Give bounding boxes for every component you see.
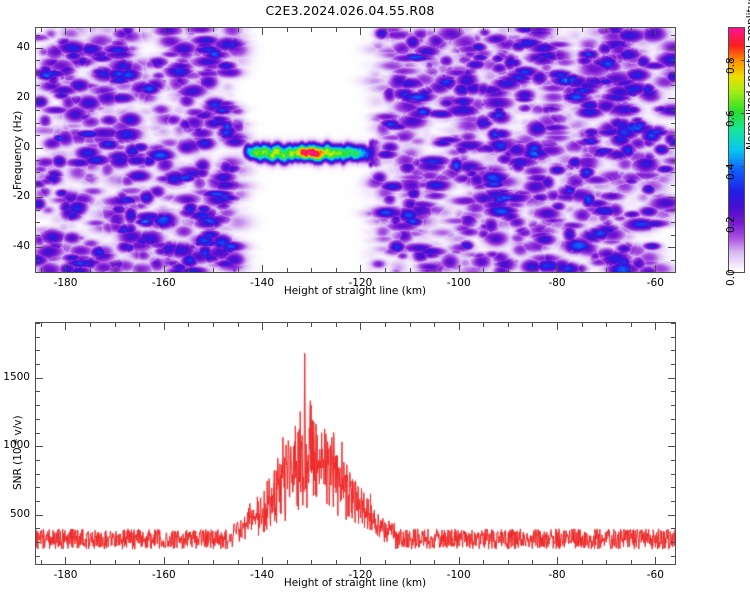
axis-tick <box>36 260 40 261</box>
axis-tick <box>434 323 435 327</box>
axis-tick <box>36 172 40 173</box>
axis-tick <box>582 268 583 272</box>
axis-tick <box>671 60 675 61</box>
axis-tick <box>671 323 675 324</box>
axis-tick <box>36 73 40 74</box>
axis-tick <box>115 560 116 564</box>
axis-tick <box>336 560 337 564</box>
axis-tick <box>36 391 40 392</box>
axis-tick <box>655 557 656 564</box>
axis-tick <box>139 268 140 272</box>
axis-tick <box>65 323 66 330</box>
axis-tick <box>671 135 675 136</box>
axis-tick <box>36 542 40 543</box>
axis-tick <box>36 528 40 529</box>
axis-tick <box>671 272 675 273</box>
axis-tick <box>532 323 533 327</box>
axis-tick <box>557 28 558 35</box>
axis-tick <box>36 48 43 49</box>
axis-tick <box>385 28 386 32</box>
axis-tick <box>262 265 263 272</box>
axis-tick <box>36 160 40 161</box>
axis-tick <box>311 323 312 327</box>
axis-tick <box>213 560 214 564</box>
colorbar-tick-label: 0.2 <box>725 216 737 233</box>
axis-tick <box>671 542 675 543</box>
axis-tick <box>508 323 509 327</box>
axis-tick <box>336 268 337 272</box>
axis-tick <box>36 247 43 248</box>
axis-tick <box>287 323 288 327</box>
axis-tick <box>671 460 675 461</box>
axis-tick <box>360 28 361 35</box>
axis-tick <box>671 73 675 74</box>
axis-tick <box>385 560 386 564</box>
axis-tick <box>115 28 116 32</box>
axis-tick <box>36 222 40 223</box>
axis-tick <box>36 364 40 365</box>
axis-tick <box>139 28 140 32</box>
axis-tick <box>115 268 116 272</box>
axis-tick <box>671 528 675 529</box>
axis-tick <box>671 235 675 236</box>
axis-tick <box>41 268 42 272</box>
axis-tick <box>36 474 40 475</box>
axis-tick <box>36 323 40 324</box>
axis-tick <box>671 405 675 406</box>
axis-tick <box>385 268 386 272</box>
axis-tick <box>36 515 43 516</box>
axis-tick <box>36 148 43 149</box>
axis-tick <box>36 185 40 186</box>
axis-tick <box>668 378 675 379</box>
colorbar-tick-label: 0.6 <box>725 110 737 127</box>
axis-tick <box>336 28 337 32</box>
axis-tick <box>655 265 656 272</box>
axis-tick <box>41 323 42 327</box>
axis-tick <box>188 28 189 32</box>
axis-tick <box>508 28 509 32</box>
axis-tick <box>36 123 40 124</box>
axis-tick <box>336 323 337 327</box>
axis-tick <box>36 35 40 36</box>
axis-tick <box>532 268 533 272</box>
colorbar-tick-label: 0.0 <box>725 269 737 286</box>
axis-tick <box>508 268 509 272</box>
y-tick-label: -20 <box>0 190 30 202</box>
axis-tick <box>36 350 40 351</box>
axis-tick <box>582 560 583 564</box>
spectrogram-plot <box>35 27 676 273</box>
axis-tick <box>115 323 116 327</box>
axis-tick <box>410 268 411 272</box>
axis-tick <box>671 35 675 36</box>
axis-tick <box>36 197 43 198</box>
axis-tick <box>36 272 40 273</box>
axis-tick <box>606 560 607 564</box>
axis-tick <box>631 268 632 272</box>
axis-tick <box>671 364 675 365</box>
axis-tick <box>671 474 675 475</box>
axis-tick <box>36 460 40 461</box>
axis-tick <box>311 28 312 32</box>
x-tick-label: -80 <box>527 569 587 581</box>
axis-tick <box>238 560 239 564</box>
spectrogram-xaxis-label: Height of straight line (km) <box>175 285 535 297</box>
axis-tick <box>671 110 675 111</box>
axis-tick <box>606 268 607 272</box>
axis-tick <box>671 501 675 502</box>
axis-tick <box>671 350 675 351</box>
axis-tick <box>655 323 656 330</box>
axis-tick <box>36 556 40 557</box>
axis-tick <box>36 135 40 136</box>
axis-tick <box>668 48 675 49</box>
axis-tick <box>483 560 484 564</box>
axis-tick <box>582 323 583 327</box>
axis-tick <box>213 323 214 327</box>
axis-tick <box>631 323 632 327</box>
axis-tick <box>671 391 675 392</box>
x-tick-label: -80 <box>527 277 587 289</box>
axis-tick <box>287 268 288 272</box>
snr-xaxis-label: Height of straight line (km) <box>175 577 535 589</box>
axis-tick <box>360 265 361 272</box>
axis-tick <box>557 557 558 564</box>
axis-tick <box>668 446 675 447</box>
axis-tick <box>655 28 656 35</box>
axis-tick <box>36 433 40 434</box>
spectrogram-yaxis-label: Frequency (Hz) <box>12 111 24 190</box>
axis-tick <box>65 265 66 272</box>
axis-tick <box>671 185 675 186</box>
axis-tick <box>668 515 675 516</box>
axis-tick <box>65 557 66 564</box>
axis-tick <box>238 268 239 272</box>
axis-tick <box>410 323 411 327</box>
axis-tick <box>311 560 312 564</box>
axis-tick <box>483 268 484 272</box>
axis-tick <box>410 28 411 32</box>
colorbar-tick-label: 0.4 <box>725 163 737 180</box>
axis-tick <box>410 560 411 564</box>
axis-tick <box>459 28 460 35</box>
axis-tick <box>36 378 43 379</box>
axis-tick <box>459 265 460 272</box>
axis-tick <box>188 560 189 564</box>
axis-tick <box>36 60 40 61</box>
axis-tick <box>483 28 484 32</box>
snr-plot <box>35 322 676 565</box>
axis-tick <box>671 210 675 211</box>
axis-tick <box>668 197 675 198</box>
axis-tick <box>287 560 288 564</box>
axis-tick <box>36 110 40 111</box>
axis-tick <box>262 28 263 35</box>
axis-tick <box>668 148 675 149</box>
axis-tick <box>671 433 675 434</box>
colorbar-tick <box>741 272 744 273</box>
figure-canvas: C2E3.2024.026.04.55.R08 -180-160-140-120… <box>0 0 750 600</box>
axis-tick <box>287 28 288 32</box>
axis-tick <box>385 323 386 327</box>
axis-tick <box>671 487 675 488</box>
axis-tick <box>311 268 312 272</box>
y-tick-label: -40 <box>0 240 30 252</box>
axis-tick <box>65 28 66 35</box>
axis-tick <box>90 560 91 564</box>
axis-tick <box>262 323 263 330</box>
snr-trace <box>36 323 675 564</box>
axis-tick <box>532 28 533 32</box>
colorbar-tick <box>741 166 744 167</box>
axis-tick <box>671 260 675 261</box>
colorbar-tick-label: 0.8 <box>725 57 737 74</box>
axis-tick <box>36 235 40 236</box>
axis-tick <box>360 557 361 564</box>
axis-tick <box>459 557 460 564</box>
axis-tick <box>483 323 484 327</box>
axis-tick <box>508 560 509 564</box>
axis-tick <box>90 28 91 32</box>
x-tick-label: -60 <box>625 569 685 581</box>
axis-tick <box>631 560 632 564</box>
axis-tick <box>582 28 583 32</box>
axis-tick <box>606 323 607 327</box>
axis-tick <box>238 323 239 327</box>
axis-tick <box>434 28 435 32</box>
axis-tick <box>532 560 533 564</box>
x-tick-label: -180 <box>35 569 95 581</box>
axis-tick <box>631 28 632 32</box>
axis-tick <box>36 419 40 420</box>
axis-tick <box>668 98 675 99</box>
axis-tick <box>459 323 460 330</box>
axis-tick <box>671 419 675 420</box>
snr-yaxis-label: SNR (10 * v/v) <box>12 415 24 490</box>
axis-tick <box>90 323 91 327</box>
axis-tick <box>213 28 214 32</box>
y-tick-label: 1500 <box>0 371 30 383</box>
axis-tick <box>164 28 165 35</box>
axis-tick <box>434 268 435 272</box>
axis-tick <box>262 557 263 564</box>
axis-tick <box>557 323 558 330</box>
axis-tick <box>671 172 675 173</box>
axis-tick <box>36 446 43 447</box>
axis-tick <box>36 337 40 338</box>
axis-tick <box>164 557 165 564</box>
axis-tick <box>606 28 607 32</box>
axis-tick <box>139 560 140 564</box>
axis-tick <box>36 98 43 99</box>
axis-tick <box>671 556 675 557</box>
axis-tick <box>671 160 675 161</box>
y-tick-label: 20 <box>0 91 30 103</box>
axis-tick <box>41 28 42 32</box>
axis-tick <box>90 268 91 272</box>
colorbar-tick <box>741 219 744 220</box>
axis-tick <box>557 265 558 272</box>
axis-tick <box>36 405 40 406</box>
y-tick-label: 500 <box>0 508 30 520</box>
axis-tick <box>164 323 165 330</box>
x-tick-label: -180 <box>35 277 95 289</box>
colorbar-tick <box>741 60 744 61</box>
axis-tick <box>671 337 675 338</box>
colorbar-label: Normalized spectral amplitude <box>745 0 750 150</box>
axis-tick <box>671 222 675 223</box>
axis-tick <box>671 85 675 86</box>
axis-tick <box>360 323 361 330</box>
axis-tick <box>188 323 189 327</box>
axis-tick <box>36 210 40 211</box>
colorbar-tick <box>741 113 744 114</box>
x-tick-label: -60 <box>625 277 685 289</box>
axis-tick <box>668 247 675 248</box>
y-tick-label: 40 <box>0 41 30 53</box>
axis-tick <box>164 265 165 272</box>
page-title: C2E3.2024.026.04.55.R08 <box>0 3 700 18</box>
axis-tick <box>213 268 214 272</box>
spectrogram-image <box>36 28 675 272</box>
axis-tick <box>139 323 140 327</box>
axis-tick <box>434 560 435 564</box>
axis-tick <box>188 268 189 272</box>
axis-tick <box>41 560 42 564</box>
axis-tick <box>36 501 40 502</box>
axis-tick <box>238 28 239 32</box>
axis-tick <box>671 123 675 124</box>
axis-tick <box>36 487 40 488</box>
axis-tick <box>36 85 40 86</box>
